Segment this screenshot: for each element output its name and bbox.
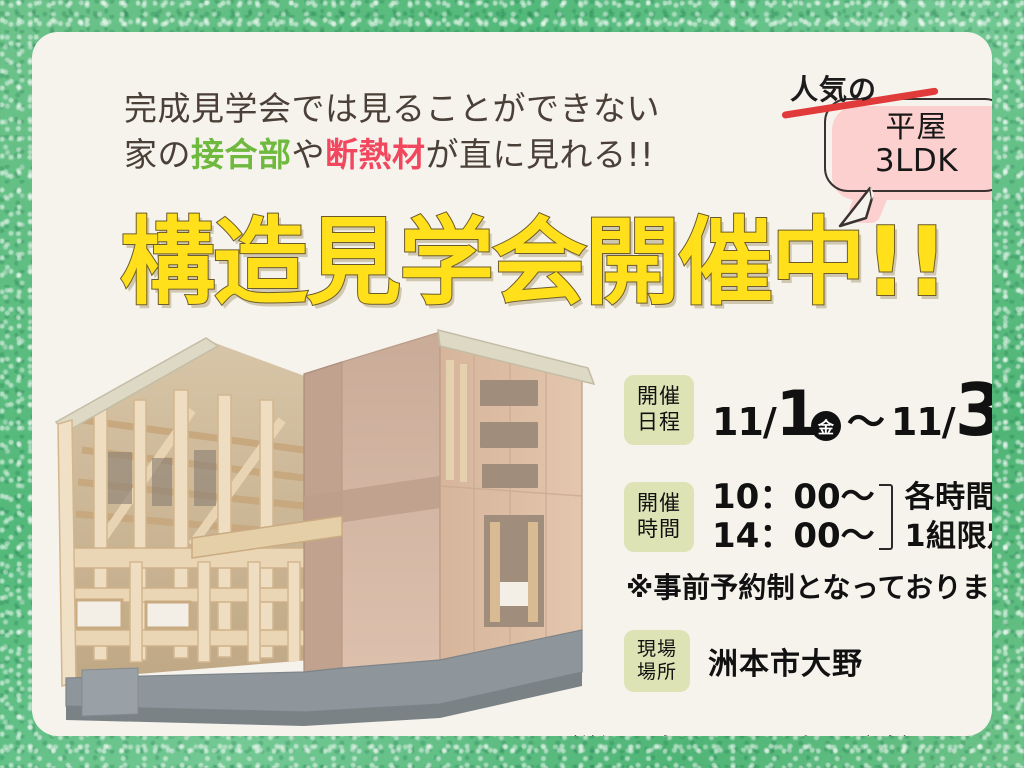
- bubble-line-1: 平屋: [886, 111, 948, 145]
- place-value: 洲本市大野: [708, 639, 863, 683]
- bubble-line-2: 3LDK: [875, 144, 958, 179]
- headline-highlight-insulation: 断熱材: [325, 135, 426, 174]
- place-badge-line-2: 場所: [637, 661, 677, 684]
- headline-text-c: が直に見れる!!: [426, 135, 654, 174]
- headline-text-a: 家の: [124, 135, 191, 174]
- headline-text-b: や: [292, 135, 326, 174]
- poster-card: 完成見学会では見ることができない 家の接合部や断熱材が直に見れる!! 人気の 平…: [32, 32, 992, 736]
- headline-line-2: 家の接合部や断熱材が直に見れる!!: [124, 132, 660, 178]
- time-slots: 10：00～ 14：00～: [712, 478, 875, 556]
- capacity-note: 各時間帯 1組限定: [905, 478, 992, 556]
- time-slot-1: 10：00～: [712, 478, 875, 517]
- time-badge-line-1: 開催: [637, 491, 681, 517]
- event-time-row: 開催 時間 10：00～ 14：00～ 各時間帯 1組限定: [624, 478, 992, 556]
- reservation-note: ※事前予約制となっております: [626, 566, 992, 606]
- date-start-day: 1: [776, 377, 817, 450]
- time-badge-line-2: 時間: [637, 517, 681, 543]
- construction-frame-photo: [42, 300, 602, 736]
- date-badge-line-1: 開催: [637, 384, 681, 410]
- bubble-lead-label: 人気の: [790, 68, 877, 108]
- headline-line-1: 完成見学会では見ることができない: [124, 86, 660, 132]
- event-date-row: 開催 日程 11/ 1 金 ～ 11/ 30 土: [624, 368, 992, 452]
- poster-root: 完成見学会では見ることができない 家の接合部や断熱材が直に見れる!! 人気の 平…: [0, 0, 1024, 768]
- place-badge-line-1: 現場: [637, 638, 677, 661]
- date-badge: 開催 日程: [624, 375, 694, 445]
- headline-block: 完成見学会では見ることができない 家の接合部や断熱材が直に見れる!!: [124, 86, 660, 178]
- popular-plan-bubble: 人気の 平屋 3LDK: [784, 68, 992, 218]
- date-start-month: 11/: [712, 400, 776, 444]
- weekday-chip-friday: 金: [811, 411, 841, 441]
- date-end-month: 11/: [891, 400, 955, 444]
- event-place-row: 現場 場所 洲本市大野: [624, 630, 863, 692]
- date-range-separator: ～: [847, 391, 885, 446]
- time-slot-2: 14：00～: [712, 517, 875, 556]
- capacity-line-2: 1組限定: [905, 517, 992, 556]
- time-badge: 開催 時間: [624, 482, 694, 552]
- time-bracket: [879, 484, 893, 550]
- footer-note: 詳細は次ページ以降をご確認ください: [570, 728, 992, 736]
- date-end-day: 30: [955, 368, 992, 452]
- bubble-text-block: 平屋 3LDK: [824, 98, 992, 192]
- date-badge-line-2: 日程: [637, 410, 681, 436]
- headline-highlight-joint: 接合部: [191, 135, 292, 174]
- date-value: 11/ 1 金 ～ 11/ 30 土: [712, 368, 992, 452]
- place-badge: 現場 場所: [624, 630, 690, 692]
- capacity-line-1: 各時間帯: [905, 478, 992, 517]
